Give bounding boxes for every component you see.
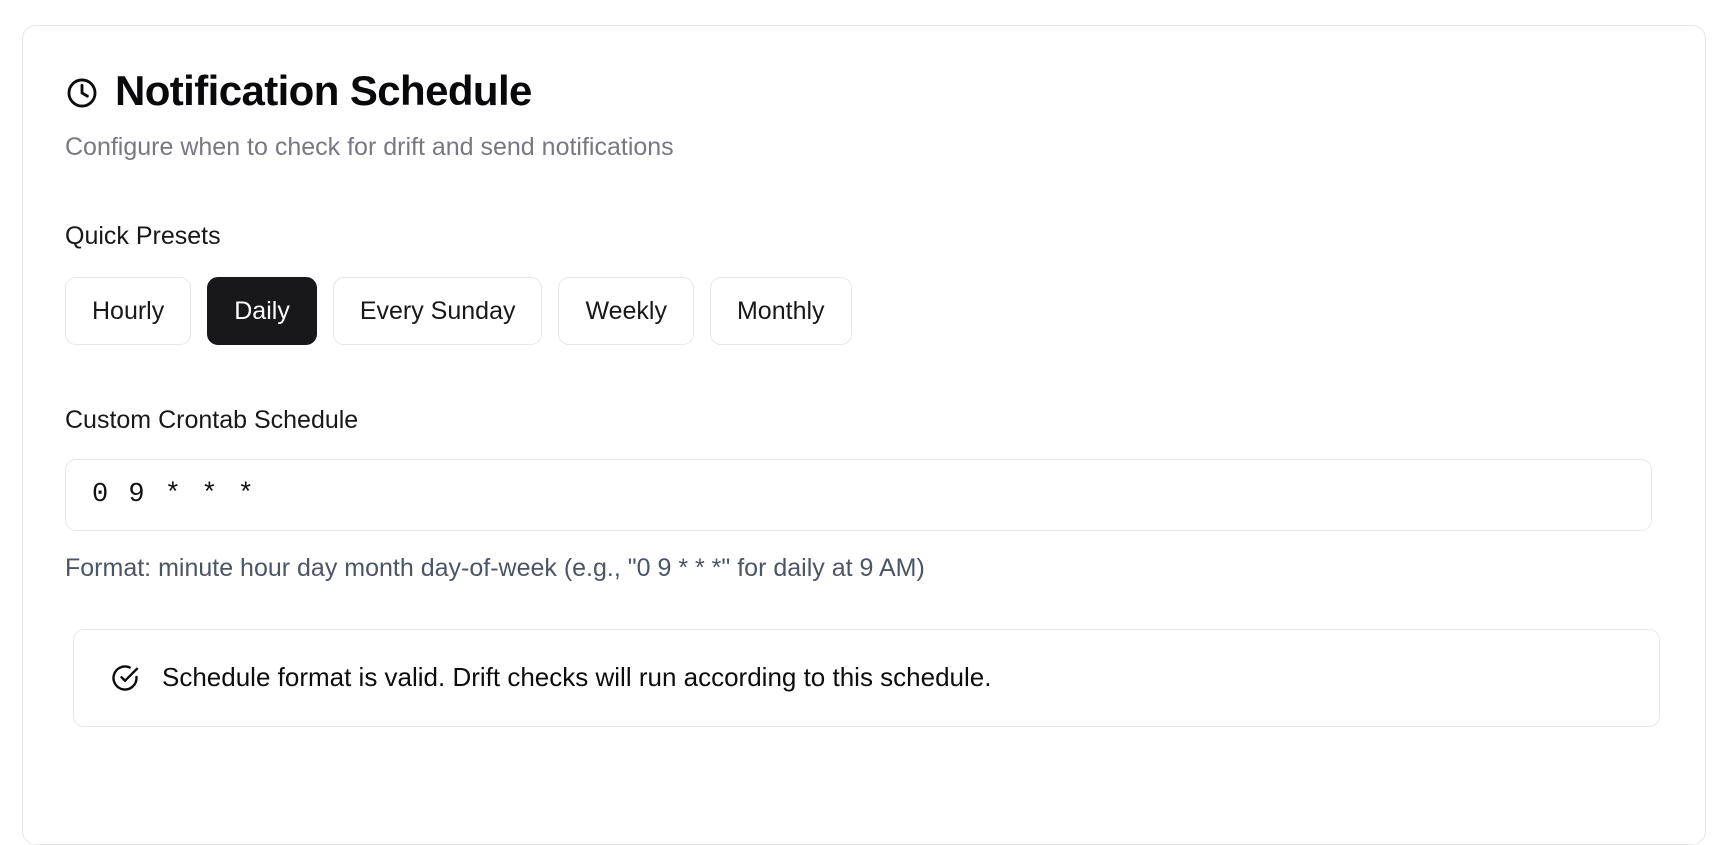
preset-button-monthly[interactable]: Monthly	[710, 277, 852, 345]
page-subtitle: Configure when to check for drift and se…	[65, 132, 1663, 163]
card-header: Notification Schedule	[65, 68, 1663, 114]
custom-crontab-label: Custom Crontab Schedule	[65, 405, 1663, 435]
check-circle-icon	[110, 663, 140, 693]
preset-button-daily[interactable]: Daily	[207, 277, 317, 345]
preset-button-every-sunday[interactable]: Every Sunday	[333, 277, 543, 345]
notification-schedule-card: Notification Schedule Configure when to …	[22, 25, 1706, 845]
quick-presets-group: Hourly Daily Every Sunday Weekly Monthly	[65, 277, 1663, 345]
clock-icon	[65, 76, 99, 110]
card-content: Notification Schedule Configure when to …	[23, 26, 1705, 727]
page-title: Notification Schedule	[115, 68, 532, 114]
validation-banner: Schedule format is valid. Drift checks w…	[73, 629, 1660, 727]
quick-presets-label: Quick Presets	[65, 221, 1663, 251]
crontab-format-hint: Format: minute hour day month day-of-wee…	[65, 553, 1663, 584]
preset-button-weekly[interactable]: Weekly	[558, 277, 694, 345]
crontab-input[interactable]	[65, 459, 1652, 531]
preset-button-hourly[interactable]: Hourly	[65, 277, 191, 345]
validation-message: Schedule format is valid. Drift checks w…	[162, 661, 991, 694]
